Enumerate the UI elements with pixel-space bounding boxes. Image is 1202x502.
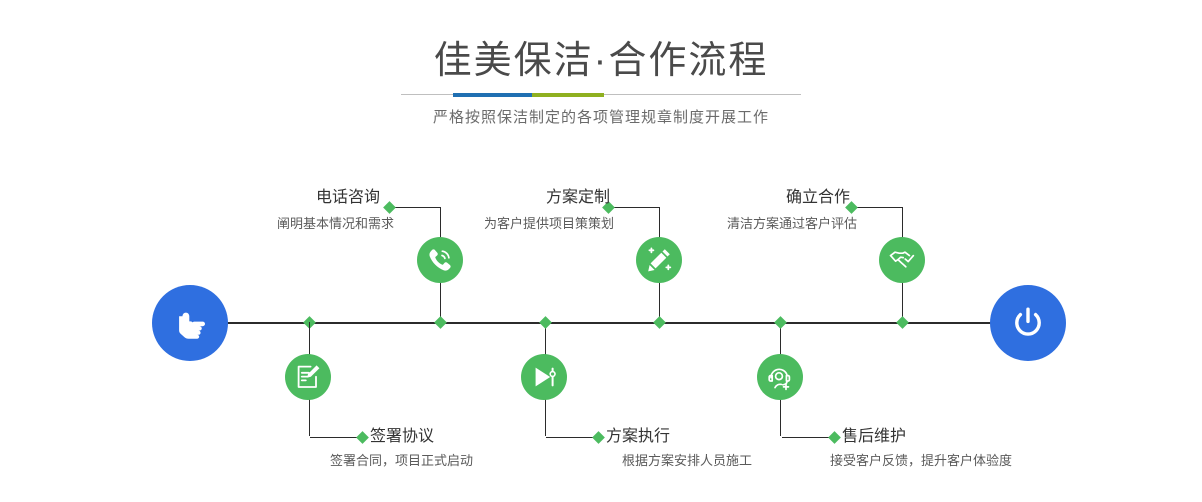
pointing-hand-icon [169,302,211,344]
step-icon-bottom-1[interactable] [285,354,331,400]
power-icon [1007,302,1049,344]
connector-horizontal-bottom-1 [310,437,362,438]
step-desc-top-2: 为客户提供项目策策划 [350,215,614,233]
step-label-top-2: 方案定制 [360,188,610,208]
divider-segment-green [532,93,604,97]
connector-horizontal-bottom-2 [546,437,598,438]
flow-diagram: 佳美保洁·合作流程 严格按照保洁制定的各项管理规章制度开展工作 [0,0,1202,502]
step-marker-bottom-1 [356,431,369,444]
pencil-ruler-icon [645,246,673,274]
title-divider [401,93,801,96]
step-icon-bottom-2[interactable] [521,354,567,400]
step-icon-top-2[interactable] [636,237,682,283]
timeline-start-node[interactable] [152,285,228,361]
step-icon-bottom-3[interactable] [757,354,803,400]
axis-marker-top-3 [774,316,787,329]
step-desc-top-3: 清洁方案通过客户评估 [585,215,857,233]
page-title: 佳美保洁·合作流程 [0,38,1202,84]
divider-segment-blue [453,93,532,97]
connector-horizontal-top-3 [851,207,903,208]
timeline-end-node[interactable] [990,285,1066,361]
phone-ringing-icon [426,246,454,274]
connector-horizontal-bottom-3 [782,437,834,438]
step-label-bottom-3: 售后维护 [842,427,1102,447]
step-desc-bottom-3: 接受客户反馈，提升客户体验度 [830,452,1150,470]
play-execute-icon [530,363,558,391]
document-pencil-icon [294,363,322,391]
handshake-icon [888,246,916,274]
step-desc-bottom-1: 签署合同，项目正式启动 [330,452,630,470]
axis-marker-top-3b [896,316,909,329]
step-label-top-1: 电话咨询 [130,188,380,208]
support-agent-add-icon [766,363,794,391]
step-label-top-3: 确立合作 [600,188,850,208]
step-icon-top-3[interactable] [879,237,925,283]
axis-marker-top-2b [653,316,666,329]
step-icon-top-1[interactable] [417,237,463,283]
axis-marker-top-1b [434,316,447,329]
axis-marker-top-2 [539,316,552,329]
page-subtitle: 严格按照保洁制定的各项管理规章制度开展工作 [0,106,1202,130]
